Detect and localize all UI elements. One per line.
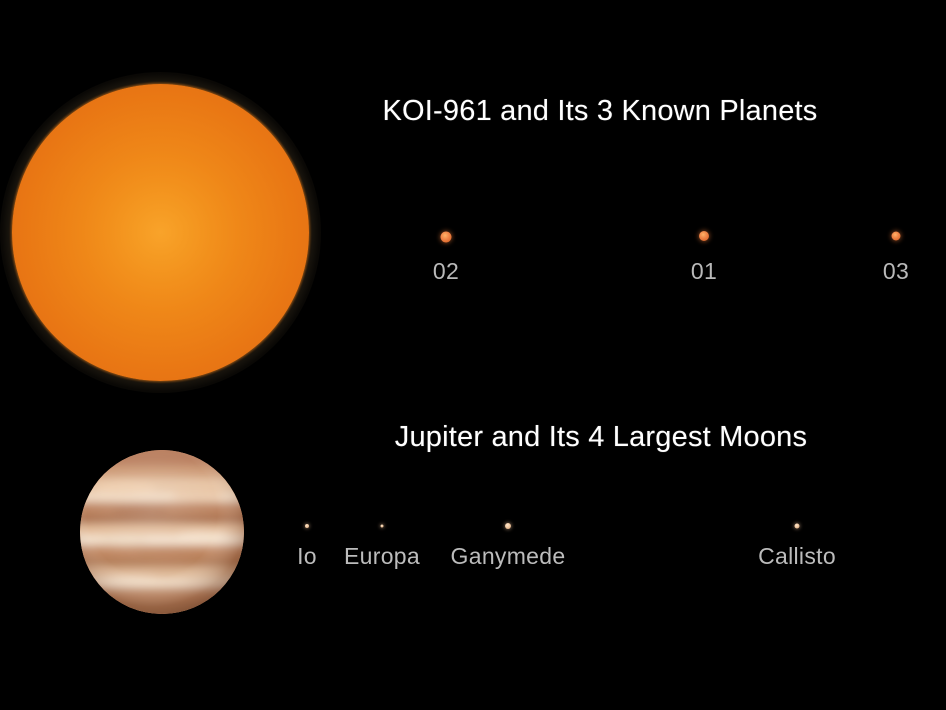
koi-961-star-disk	[12, 84, 309, 381]
planet-label-01: 01	[691, 258, 717, 285]
planet-label-02: 02	[433, 258, 459, 285]
moon-dot-io	[305, 524, 309, 528]
planet-dot-01	[699, 231, 709, 241]
moon-label-ganymede: Ganymede	[451, 543, 566, 570]
moon-dot-europa	[381, 525, 384, 528]
moon-dot-ganymede	[505, 523, 511, 529]
comparison-figure: KOI-961 and Its 3 Known Planets 02 01 03	[0, 0, 946, 710]
moon-label-io: Io	[297, 543, 317, 570]
moon-dot-callisto	[795, 524, 800, 529]
moon-label-callisto: Callisto	[758, 543, 836, 570]
planet-dot-02	[441, 232, 452, 243]
jupiter-section-title: Jupiter and Its 4 Largest Moons	[395, 421, 807, 454]
jupiter-disk	[80, 450, 244, 614]
koi-961-section-title: KOI-961 and Its 3 Known Planets	[382, 95, 817, 128]
moon-label-europa: Europa	[344, 543, 420, 570]
planet-label-03: 03	[883, 258, 909, 285]
jupiter-bands-graphic	[80, 450, 244, 614]
planet-dot-03	[892, 232, 901, 241]
